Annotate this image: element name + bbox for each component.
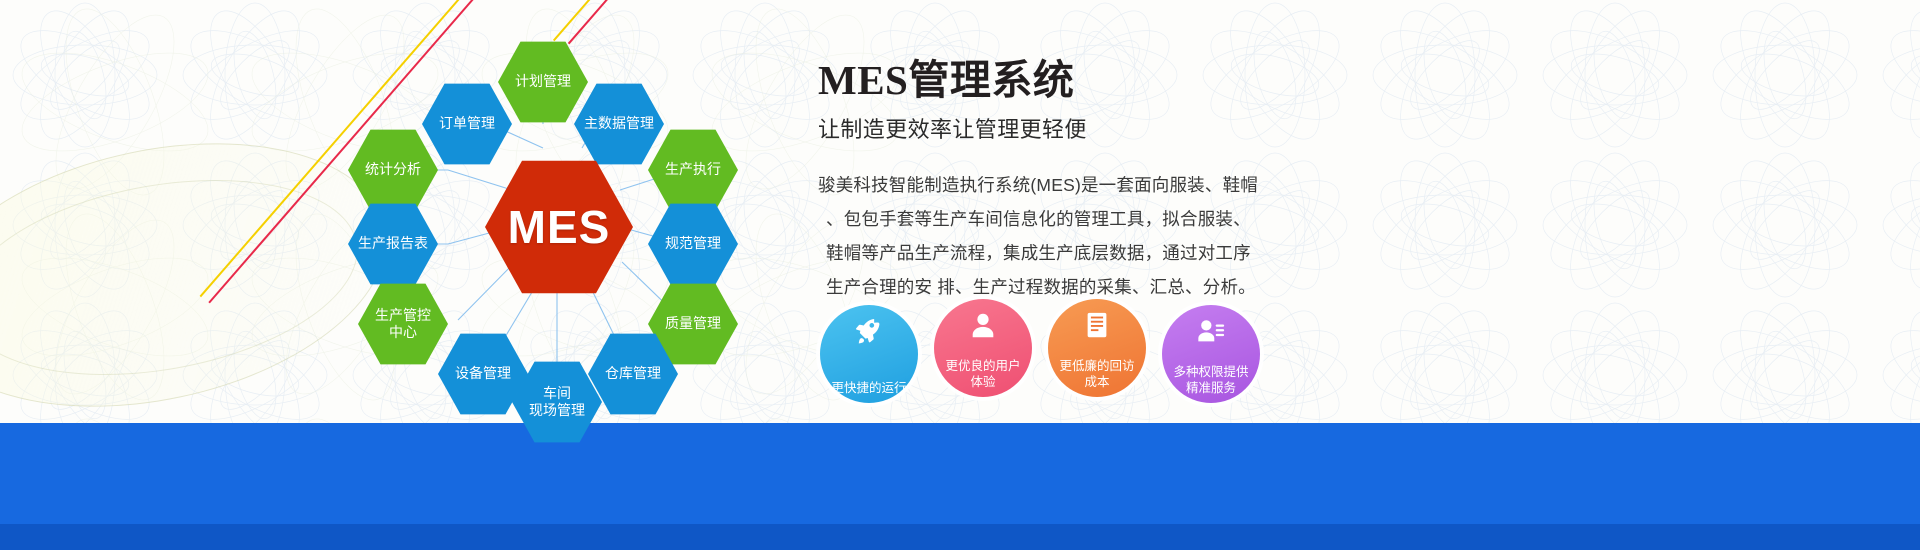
page-title: MES管理系统 [818, 58, 1288, 104]
feature-badge[interactable]: 多种权限提供精准服务 [1162, 305, 1260, 403]
mes-promo-banner: 计划管理订单管理主数据管理统计分析生产执行生产报告表规范管理生产管控中心质量管理… [0, 0, 1920, 550]
bottom-blue-band-dark [0, 524, 1920, 550]
hexagon-node-label: 车间现场管理 [529, 385, 585, 419]
description-line: 、包包手套等生产车间信息化的管理工具，拟合服装、 [818, 202, 1288, 236]
hexagon-center-label: MES [508, 199, 611, 255]
feature-badge-group: 更快捷的运行更优良的用户体验更低廉的回访成本多种权限提供精准服务 [820, 305, 1260, 403]
hexagon-node-label: 质量管理 [665, 315, 721, 332]
hexagon-node-label: 订单管理 [439, 115, 495, 132]
feature-badge-label: 更低廉的回访成本 [1053, 358, 1140, 390]
mes-hexagon-diagram: 计划管理订单管理主数据管理统计分析生产执行生产报告表规范管理生产管控中心质量管理… [330, 20, 800, 440]
page-subtitle: 让制造更效率让管理更轻便 [818, 112, 1288, 144]
hexagon-node-label: 仓库管理 [605, 365, 661, 382]
description-paragraph: 骏美科技智能制造执行系统(MES)是一套面向服装、鞋帽、包包手套等生产车间信息化… [818, 168, 1288, 305]
user-list-icon [1196, 316, 1226, 346]
hexagon-node-label: 生产管控中心 [375, 307, 431, 341]
rocket-icon [854, 316, 884, 346]
hexagon-node-label: 规范管理 [665, 235, 721, 252]
feature-badge[interactable]: 更优良的用户体验 [934, 299, 1032, 397]
description-line: 生产合理的安 排、生产过程数据的采集、汇总、分析。 [818, 270, 1288, 304]
hexagon-node-label: 设备管理 [455, 365, 511, 382]
feature-badge-label: 更快捷的运行 [825, 380, 912, 396]
hexagon-node-label: 生产执行 [665, 161, 721, 178]
feature-badge-label: 多种权限提供精准服务 [1167, 364, 1254, 396]
hexagon-node-label: 生产报告表 [358, 235, 428, 252]
user-icon [968, 310, 998, 340]
description-line: 骏美科技智能制造执行系统(MES)是一套面向服装、鞋帽 [818, 168, 1288, 202]
text-panel: MES管理系统 让制造更效率让管理更轻便 骏美科技智能制造执行系统(MES)是一… [818, 58, 1288, 304]
hexagon-node-label: 主数据管理 [584, 115, 654, 132]
document-icon [1082, 310, 1112, 340]
feature-badge[interactable]: 更低廉的回访成本 [1048, 299, 1146, 397]
hexagon-node-label: 计划管理 [515, 73, 571, 90]
feature-badge-label: 更优良的用户体验 [939, 358, 1026, 390]
hexagon-node-label: 统计分析 [365, 161, 421, 178]
description-line: 鞋帽等产品生产流程，集成生产底层数据，通过对工序 [818, 236, 1288, 270]
feature-badge[interactable]: 更快捷的运行 [820, 305, 918, 403]
